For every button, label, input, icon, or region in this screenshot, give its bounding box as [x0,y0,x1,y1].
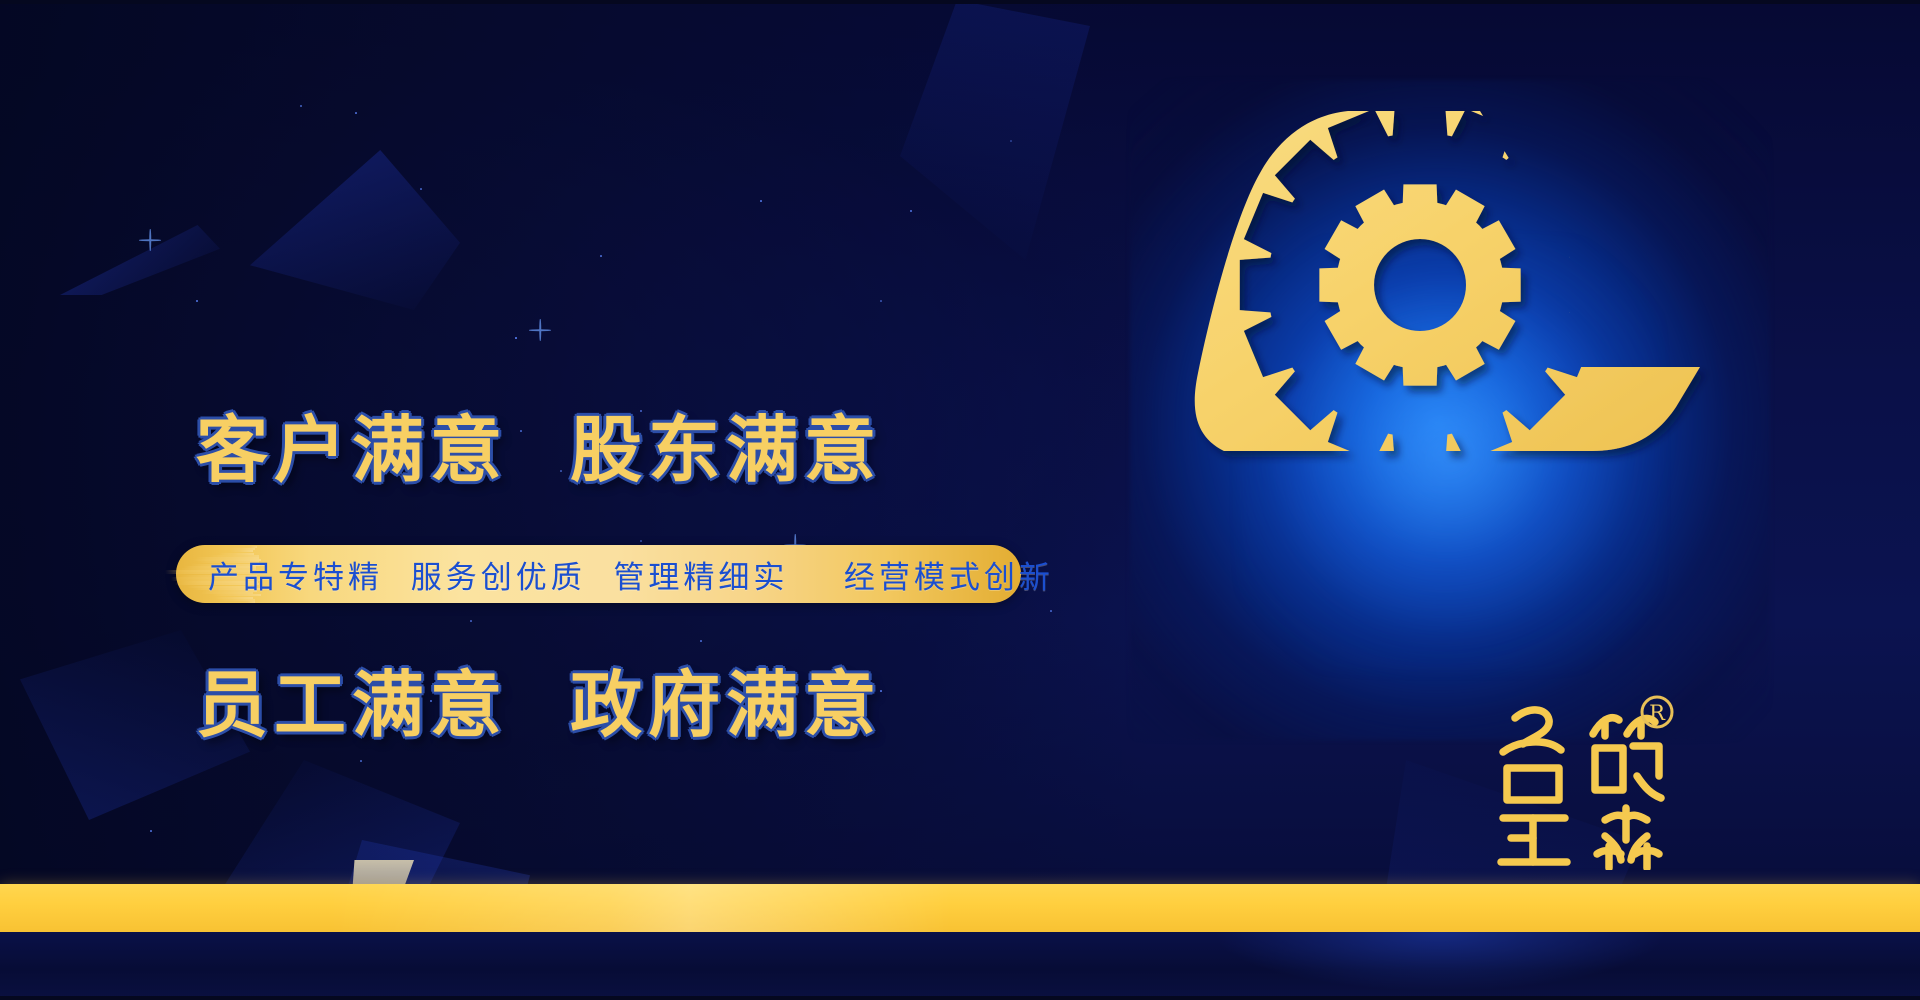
slogan-banner: 产品专特精 服务创优质 管理精细实 经营模式创新 [176,545,1026,603]
registered-mark-glyph: R [1649,701,1666,725]
registered-trademark-icon: R [1642,697,1672,727]
footer-glow [1180,932,1700,1000]
bottom-edge-line [0,996,1920,1000]
top-edge-line [0,0,1920,4]
gold-bar-sheen [330,884,950,932]
logo-body-shape [1195,111,1700,451]
poster-canvas: 客户满意 股东满意 员工满意 政府满意 产品专特精 服务创优质 管理精细实 经营… [0,0,1920,1000]
company-logo [1120,85,1700,505]
headline-line-2: 员工满意 政府满意 [196,663,956,748]
footer-gold-bar [0,884,1920,932]
slogan-banner-text: 产品专特精 服务创优质 管理精细实 经营模式创新 [208,545,1054,603]
headline-line-1: 客户满意 股东满意 [196,408,956,493]
brand-char-sen [1597,808,1659,868]
brand-char-tai [1503,710,1561,800]
footer-strip [0,932,1920,1000]
brand-char-zheng [1501,818,1567,862]
brand-wordmark: R [1485,690,1685,870]
brand-char-zhu [1593,718,1661,798]
